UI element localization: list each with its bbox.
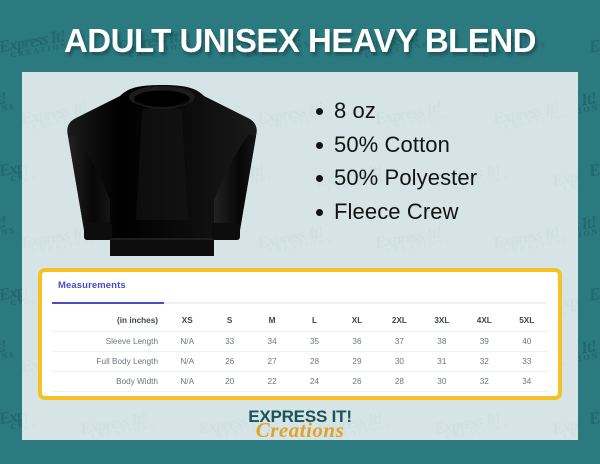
watermark-logo: Express It!CREATIONS	[293, 460, 371, 464]
brand-logo: EXPRESS IT! Creations	[22, 408, 578, 440]
table-column-header: 5XL	[506, 311, 549, 332]
feature-item: 50% Polyester	[334, 161, 560, 195]
table-column-header: XS	[166, 311, 208, 332]
watermark-logo: Express It!CREATIONS	[588, 150, 600, 186]
table-cell: 36	[336, 332, 378, 352]
table-cell: 30	[378, 352, 420, 372]
page-title: ADULT UNISEX HEAVY BLEND	[0, 22, 600, 60]
watermark-logo: Express It!CREATIONS	[411, 460, 489, 464]
table-row-label: Sleeve Length	[52, 332, 166, 352]
watermark-logo: Express It!CREATIONS	[22, 160, 38, 196]
feature-item: 50% Cotton	[334, 128, 560, 162]
table-cell: 26	[208, 352, 250, 372]
table-row-label: Full Body Length	[52, 352, 166, 372]
table-row-label: Body Width	[52, 372, 166, 392]
table-row: Full Body LengthN/A2627282930313233	[52, 352, 548, 372]
watermark-logo: Express It!CREATIONS	[0, 212, 16, 248]
table-cell: 29	[336, 352, 378, 372]
table-cell: 24	[293, 372, 335, 392]
table-header-row: (in inches)XSSMLXL2XL3XL4XL5XL	[52, 311, 548, 332]
table-cell: 37	[378, 332, 420, 352]
measurements-tab-label: Measurements	[52, 280, 548, 291]
table-row: Sleeve LengthN/A3334353637383940	[52, 332, 548, 352]
tab-active-underline	[52, 302, 164, 304]
table-cell: 33	[208, 332, 250, 352]
table-cell: 39	[463, 332, 505, 352]
measurements-table: (in inches)XSSMLXL2XL3XL4XL5XL Sleeve Le…	[52, 311, 548, 392]
watermark-logo: Express It!CREATIONS	[0, 88, 16, 124]
brand-logo-script: Creations	[22, 418, 578, 440]
table-cell: 34	[251, 332, 293, 352]
table-cell: 27	[251, 352, 293, 372]
table-cell: N/A	[166, 372, 208, 392]
table-row: Body WidthN/A2022242628303234	[52, 372, 548, 392]
table-column-header: 2XL	[378, 311, 420, 332]
measurements-tab[interactable]: Measurements	[52, 280, 548, 304]
table-cell: 30	[421, 372, 463, 392]
watermark-logo: Express It!CREATIONS	[588, 398, 600, 434]
watermark-logo: Express It!CREATIONS	[0, 336, 16, 372]
table-cell: 40	[506, 332, 549, 352]
sweatshirt-image	[42, 80, 282, 270]
table-cell: 35	[293, 332, 335, 352]
table-cell: 31	[421, 352, 463, 372]
table-cell: 32	[463, 372, 505, 392]
poster-canvas: Express It!CREATIONSExpress It!CREATIONS…	[0, 0, 600, 464]
watermark-logo: Express It!CREATIONS	[175, 460, 253, 464]
table-column-header: L	[293, 311, 335, 332]
table-cell: N/A	[166, 352, 208, 372]
table-column-header: 4XL	[463, 311, 505, 332]
table-column-header: XL	[336, 311, 378, 332]
watermark-logo: Express It!CREATIONS	[588, 274, 600, 310]
measurements-card: Measurements (in inches)XSSMLXL2XL3XL4XL…	[38, 268, 562, 400]
table-column-header: 3XL	[421, 311, 463, 332]
table-cell: 20	[208, 372, 250, 392]
watermark-logo: Express It!CREATIONS	[22, 284, 38, 320]
watermark-logo: Express It!CREATIONS	[57, 460, 135, 464]
table-cell: 28	[293, 352, 335, 372]
table-column-header: S	[208, 311, 250, 332]
table-cell: N/A	[166, 332, 208, 352]
table-cell: 32	[463, 352, 505, 372]
table-column-header: M	[251, 311, 293, 332]
table-cell: 22	[251, 372, 293, 392]
feature-list: 8 oz50% Cotton50% PolyesterFleece Crew	[314, 94, 560, 229]
watermark-logo: Express It!CREATIONS	[0, 460, 16, 464]
table-cell: 28	[378, 372, 420, 392]
table-cell: 33	[506, 352, 549, 372]
table-column-header: (in inches)	[52, 311, 166, 332]
feature-item: Fleece Crew	[334, 195, 560, 229]
table-cell: 26	[336, 372, 378, 392]
table-cell: 38	[421, 332, 463, 352]
table-cell: 34	[506, 372, 549, 392]
product-panel: Express It!CREATIONSExpress It!CREATIONS…	[22, 72, 578, 440]
feature-item: 8 oz	[334, 94, 560, 128]
watermark-logo: Express It!CREATIONS	[529, 460, 600, 464]
